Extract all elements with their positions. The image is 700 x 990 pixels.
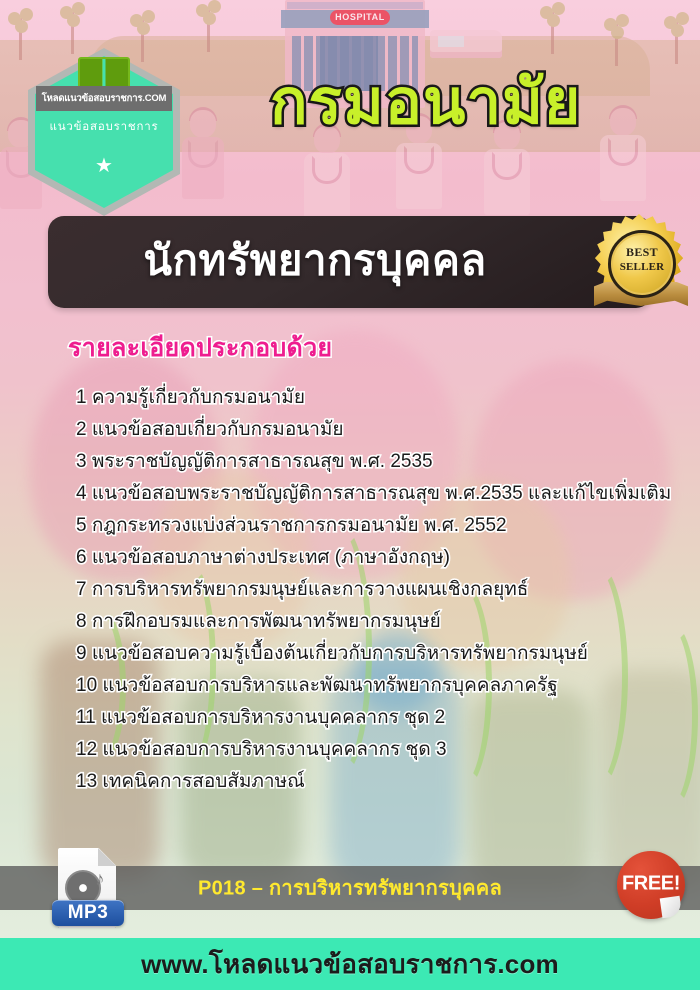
seal-disc: BEST SELLER — [608, 230, 676, 298]
list-item: 10 แนวข้อสอบการบริหารและพัฒนาทรัพยากรบุค… — [76, 670, 676, 702]
list-item: 7 การบริหารทรัพยากรมนุษย์และการวางแผนเชิ… — [76, 574, 676, 606]
sticker-peel-corner — [660, 896, 683, 919]
brand-logo-badge[interactable]: โหลดแนวข้อสอบราชการ.COM แนวข้อสอบราชการ … — [28, 48, 180, 216]
free-label: FREE! — [617, 872, 685, 895]
medical-staff-figure — [596, 108, 650, 226]
tree-icon — [196, 0, 222, 52]
topic-list: 1 ความรู้เกี่ยวกับกรมอนามัย 2 แนวข้อสอบเ… — [76, 382, 676, 798]
list-item: 8 การฝึกอบรมและการพัฒนาทรัพยากรมนุษย์ — [76, 606, 676, 638]
badge-subtitle: แนวข้อสอบราชการ — [28, 118, 180, 136]
section-heading: รายละเอียดประกอบด้วย — [68, 328, 332, 368]
ambulance-icon — [430, 30, 502, 58]
tree-icon — [604, 14, 630, 66]
free-sticker: FREE! — [617, 851, 685, 919]
list-item: 2 แนวข้อสอบเกี่ยวกับกรมอนามัย — [76, 414, 676, 446]
seal-line-1: BEST — [611, 245, 673, 260]
badge-domain-text: โหลดแนวข้อสอบราชการ.COM — [42, 91, 167, 106]
list-item: 5 กฎกระทรวงแบ่งส่วนราชการกรมอนามัย พ.ศ. … — [76, 510, 676, 542]
subtitle-bar: นักทรัพยากรบุคคล — [48, 216, 652, 308]
hospital-sign: HOSPITAL — [330, 10, 390, 25]
best-seller-seal: BEST SELLER — [588, 212, 696, 320]
page-title: กรมอนามัย — [270, 72, 581, 134]
poster-canvas: HOSPITAL — [0, 0, 700, 990]
list-item: 3 พระราชบัญญัติการสาธารณสุข พ.ศ. 2535 — [76, 446, 676, 478]
music-note-icon: ♪ — [95, 870, 105, 889]
hospital-roof-trim — [287, 2, 423, 9]
list-item: 4 แนวข้อสอบพระราชบัญญัติการสาธารณสุข พ.ศ… — [76, 478, 676, 510]
footer-bar: www.โหลดแนวข้อสอบราชการ.com — [0, 938, 700, 990]
list-item: 9 แนวข้อสอบความรู้เบื้องต้นเกี่ยวกับการบ… — [76, 638, 676, 670]
tree-icon — [664, 12, 690, 64]
seal-line-2: SELLER — [611, 261, 673, 273]
list-item: 12 แนวข้อสอบการบริหารงานบุคคลากร ชุด 3 — [76, 734, 676, 766]
website-url[interactable]: www.โหลดแนวข้อสอบราชการ.com — [141, 944, 559, 985]
list-item: 13 เทคนิคการสอบสัมภาษณ์ — [76, 766, 676, 798]
star-icon: ★ — [95, 156, 113, 176]
medical-staff-figure — [176, 110, 230, 220]
tree-icon — [540, 2, 566, 54]
mp3-file-icon: ♪ MP3 — [52, 848, 124, 936]
list-item: 6 แนวข้อสอบภาษาต่างประเทศ (ภาษาอังกฤษ) — [76, 542, 676, 574]
list-item: 11 แนวข้อสอบการบริหารงานบุคคลากร ชุด 2 — [76, 702, 676, 734]
badge-domain-band: โหลดแนวข้อสอบราชการ.COM — [36, 86, 172, 111]
mp3-label: MP3 — [52, 900, 124, 926]
position-title: นักทรัพยากรบุคคล — [48, 228, 582, 294]
tree-icon — [60, 2, 86, 54]
list-item: 1 ความรู้เกี่ยวกับกรมอนามัย — [76, 382, 676, 414]
